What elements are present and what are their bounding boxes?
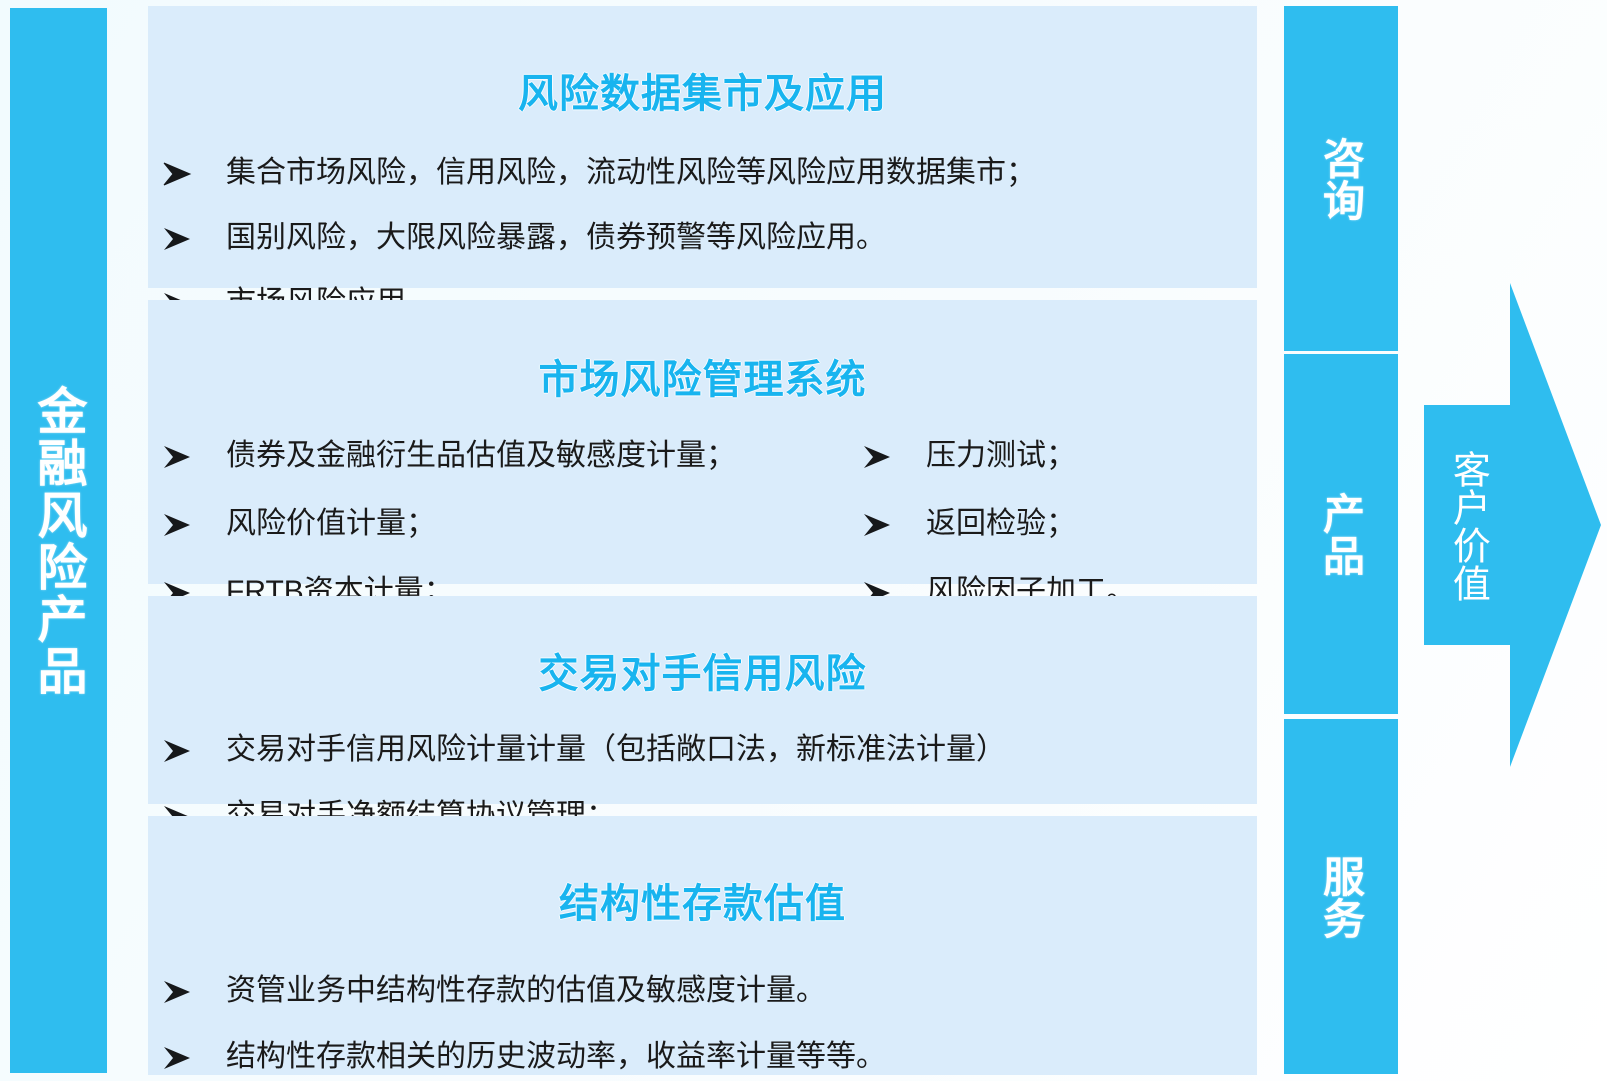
list-item-text: 压力测试；: [926, 438, 1257, 474]
list-item-text: 交易对手信用风险计量计量（包括敞口法，新标准法计量）: [226, 732, 1257, 768]
stage-service: 服务: [1284, 719, 1398, 1074]
stage-column: 咨询 产品 服务: [1284, 6, 1398, 1074]
list-item: 压力测试；: [848, 438, 1257, 474]
panel-market-risk-system: 市场风险管理系统 债券及金融衍生品估值及敏感度计量； 压力测试； 风险价值计量；: [148, 300, 1257, 584]
stage-label: 产品: [1317, 492, 1364, 576]
list-item-text: 债券及金融衍生品估值及敏感度计量；: [226, 438, 848, 474]
bullet-list: 资管业务中结构性存款的估值及敏感度计量。 结构性存款相关的历史波动率，收益率计量…: [148, 973, 1257, 1075]
list-item: 交易对手信用风险计量计量（包括敞口法，新标准法计量）: [148, 732, 1257, 768]
list-item-text: 资管业务中结构性存款的估值及敏感度计量。: [226, 973, 1257, 1009]
panel-counterparty-credit-risk: 交易对手信用风险 交易对手信用风险计量计量（包括敞口法，新标准法计量） 交易对手…: [148, 596, 1257, 804]
panel-title: 市场风险管理系统: [148, 333, 1257, 405]
stage-consulting: 咨询: [1284, 6, 1398, 351]
panel-risk-data-mart: 风险数据集市及应用 集合市场风险，信用风险，流动性风险等风险应用数据集市； 国: [148, 6, 1257, 288]
bullet-list: 集合市场风险，信用风险，流动性风险等风险应用数据集市； 国别风险，大限风险暴露，…: [148, 155, 1257, 321]
list-item: 结构性存款相关的历史波动率，收益率计量等等。: [148, 1039, 1257, 1075]
panel-title: 风险数据集市及应用: [148, 39, 1257, 119]
stage-label: 服务: [1317, 855, 1364, 939]
list-item-text: 结构性存款相关的历史波动率，收益率计量等等。: [226, 1039, 1257, 1075]
arrowhead-bullet-icon: [848, 506, 926, 538]
arrowhead-bullet-icon: [148, 438, 226, 470]
arrowhead-bullet-icon: [848, 438, 926, 470]
list-item-text: 返回检验；: [926, 506, 1257, 542]
left-category-label: 金融风险产品: [30, 385, 88, 697]
list-item: 资管业务中结构性存款的估值及敏感度计量。: [148, 973, 1257, 1009]
arrowhead-bullet-icon: [148, 155, 226, 187]
list-item: 集合市场风险，信用风险，流动性风险等风险应用数据集市；: [148, 155, 1257, 191]
left-category-bar: 金融风险产品: [10, 8, 107, 1073]
arrowhead-bullet-icon: [148, 732, 226, 764]
panel-title: 交易对手信用风险: [148, 629, 1257, 699]
stage-label: 咨询: [1317, 137, 1364, 221]
list-item-text: 风险价值计量；: [226, 506, 848, 542]
stage-product: 产品: [1284, 354, 1398, 714]
list-item: 债券及金融衍生品估值及敏感度计量；: [148, 438, 848, 474]
panel-title: 结构性存款估值: [148, 849, 1257, 929]
panel-structured-deposit-valuation: 结构性存款估值 资管业务中结构性存款的估值及敏感度计量。 结构性存款相关的历史波…: [148, 816, 1257, 1075]
list-item-text: 国别风险，大限风险暴露，债券预警等风险应用。: [226, 220, 1257, 256]
panel-stack: 风险数据集市及应用 集合市场风险，信用风险，流动性风险等风险应用数据集市； 国: [148, 6, 1257, 1075]
arrowhead-bullet-icon: [148, 506, 226, 538]
arrowhead-bullet-icon: [148, 973, 226, 1005]
arrowhead-bullet-icon: [148, 1039, 226, 1071]
list-item: 国别风险，大限风险暴露，债券预警等风险应用。: [148, 220, 1257, 256]
list-item-text: 集合市场风险，信用风险，流动性风险等风险应用数据集市；: [226, 155, 1257, 191]
customer-value-arrow-icon: [1418, 275, 1607, 775]
list-item: 风险价值计量；: [148, 506, 848, 542]
list-item: 返回检验；: [848, 506, 1257, 542]
arrowhead-bullet-icon: [148, 220, 226, 252]
